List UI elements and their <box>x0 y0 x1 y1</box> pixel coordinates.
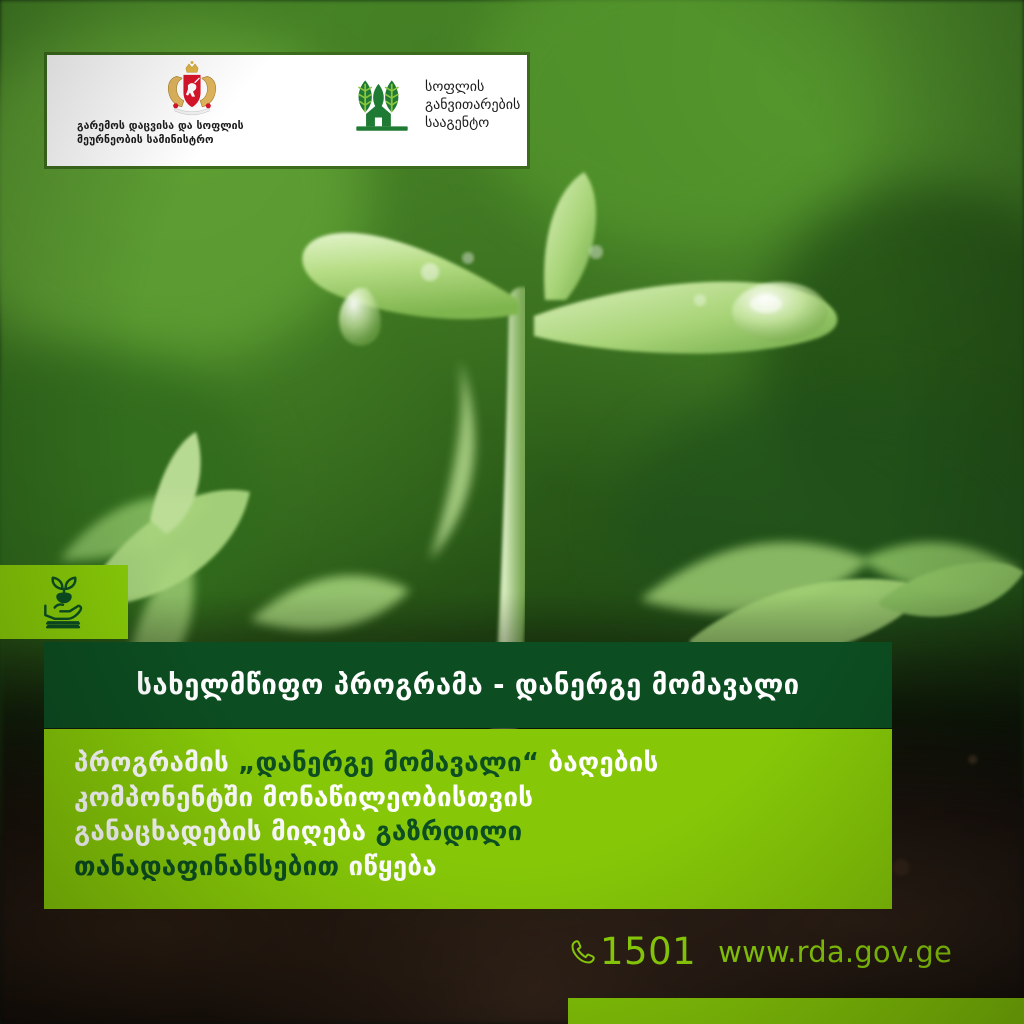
body-line-3-emphasis: გაზრდილი <box>375 817 522 847</box>
body-line-1: პროგრამის „დანერგე მომავალი“ ბაღების <box>74 746 892 781</box>
agency-lockup: სოფლის განვითარების სააგენტო <box>351 75 520 137</box>
body-line-4: თანადაფინანსებით იწყება <box>74 850 892 885</box>
body-line-4-part-b: იწყება <box>348 852 436 882</box>
body-line-2: კომპონენტში მონაწილეობისთვის <box>74 781 892 816</box>
body-line-1-part-b: ბაღების <box>548 748 658 778</box>
website-url[interactable]: www.rda.gov.ge <box>718 935 952 969</box>
body-band: პროგრამის „დანერგე მომავალი“ ბაღების კომ… <box>44 729 892 909</box>
hand-holding-sprout-icon <box>34 574 94 630</box>
body-line-4-emphasis: თანადაფინანსებით <box>74 852 339 882</box>
contact-row: 1501 www.rda.gov.ge <box>568 930 952 973</box>
phone-icon <box>568 937 598 967</box>
ministry-name: გარემოს დაცვისა და სოფლის მეურნეობის სამ… <box>77 120 307 148</box>
bottom-accent-bar <box>568 998 1024 1024</box>
body-line-1-quoted: „დანერგე მომავალი“ <box>238 748 539 778</box>
phone-number[interactable]: 1501 <box>600 930 696 973</box>
headline-text: სახელმწიფო პროგრამა - დანერგე მომავალი <box>136 669 799 701</box>
logo-plaque: გარემოს დაცვისა და სოფლის მეურნეობის სამ… <box>44 52 530 169</box>
body-line-3-part-a: განაცხადების მიღება <box>74 817 366 847</box>
body-line-3: განაცხადების მიღება გაზრდილი <box>74 815 892 850</box>
two-trees-house-icon <box>351 75 413 137</box>
body-line-1-part-a: პროგრამის <box>74 748 229 778</box>
poster-canvas: გარემოს დაცვისა და სოფლის მეურნეობის სამ… <box>0 0 1024 1024</box>
program-icon-tile <box>0 565 128 639</box>
ministry-lockup: გარემოს დაცვისა და სოფლის მეურნეობის სამ… <box>77 61 307 148</box>
georgian-coat-of-arms-icon <box>161 61 223 117</box>
logo-plaque-inner: გარემოს დაცვისა და სოფლის მეურნეობის სამ… <box>51 59 523 162</box>
headline-band: სახელმწიფო პროგრამა - დანერგე მომავალი <box>44 642 892 728</box>
agency-name: სოფლის განვითარების სააგენტო <box>425 79 520 133</box>
